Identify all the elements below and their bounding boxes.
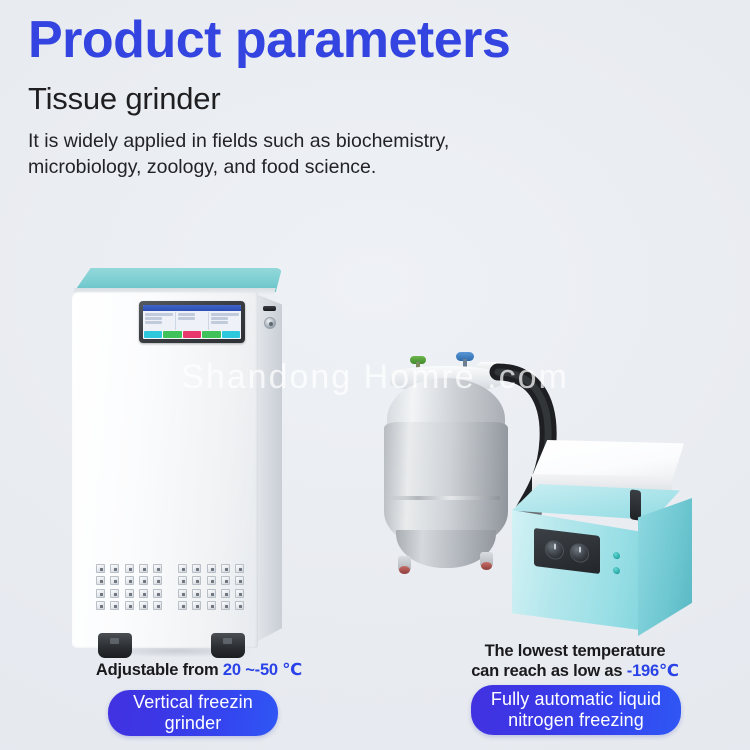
vent-cell [207,601,216,610]
freezing-chamber-unit [512,440,692,630]
right-caption-highlight: -196℃ [627,662,679,680]
description-line-2: microbiology, zoology, and food science. [28,156,376,178]
vent-cell [110,589,119,598]
vent-cell [178,601,187,610]
product-description: It is widely applied in fields such as b… [28,129,588,181]
grinder-foot-left [98,633,132,658]
vent-cell [139,564,148,573]
left-button-line-1: Vertical freezin [133,692,253,712]
vent-cell [125,589,134,598]
right-product-caption: The lowest temperature can reach as low … [452,641,698,681]
description-line-1: It is widely applied in fields such as b… [28,130,449,152]
vent-cell [178,589,187,598]
product-name: Tissue grinder [28,81,750,117]
freezer-lid-latch[interactable] [630,489,641,521]
grinder-usb-port[interactable] [263,306,276,311]
right-caption-line-1: The lowest temperature [485,642,666,660]
screen-divider [175,312,176,330]
vent-cell [235,601,244,610]
vent-cell [125,564,134,573]
freezer-dial-left[interactable] [545,539,564,560]
vent-cell [153,576,162,585]
screen-text-line [211,313,239,316]
vent-cell [192,601,201,610]
grinder-power-knob-icon[interactable] [264,317,276,329]
grinder-vent-area [96,564,246,610]
vent-cell [207,576,216,585]
liquid-nitrogen-freezing-button[interactable]: Fully automatic liquid nitrogen freezing [471,685,681,735]
tank-caster-wheel [398,556,411,571]
vent-cell [139,576,148,585]
vent-cell [235,564,244,573]
screen-button-cyan[interactable] [144,331,162,338]
screen-text-line [211,321,228,324]
left-button-label: Vertical freezin grinder [133,692,253,734]
tank-caster-wheel [480,552,493,567]
vertical-grinder-illustration [68,268,290,656]
vent-cell [139,589,148,598]
vent-cell [153,601,162,610]
vent-cell [125,601,134,610]
vent-cell [221,589,230,598]
vent-cell [110,601,119,610]
screen-divider [208,312,209,330]
grinder-vent-grille-left [96,564,164,610]
freezer-indicator-light [613,552,620,560]
vent-cell [178,576,187,585]
vent-cell [96,576,105,585]
vent-cell [153,564,162,573]
screen-button-row[interactable] [143,331,241,339]
right-button-label: Fully automatic liquid nitrogen freezing [491,689,661,731]
vent-cell [192,576,201,585]
vertical-freezing-grinder-button[interactable]: Vertical freezin grinder [108,690,278,736]
vent-cell [192,589,201,598]
screen-readout-mid [177,312,207,330]
grinder-vent-grille-right [178,564,246,610]
vent-cell [110,576,119,585]
grinder-touchscreen[interactable] [143,305,241,339]
grinder-foot-right [211,633,245,658]
freezer-indicator-group [610,551,622,586]
page-title: Product parameters [28,14,750,67]
right-button-line-1: Fully automatic liquid [491,689,661,709]
screen-button-cyan[interactable] [222,331,240,338]
vent-cell [125,576,134,585]
header-block: Product parameters Tissue grinder It is … [0,0,750,181]
liquid-nitrogen-dewar-tank [382,344,512,574]
vent-cell [207,564,216,573]
left-product-caption: Adjustable from 20 ~-50 ℃ [60,660,338,680]
vent-cell [96,589,105,598]
screen-text-line [145,313,173,316]
tank-seam-ring [390,496,500,500]
screen-readout-right [210,312,240,330]
vent-cell [221,564,230,573]
vent-cell [207,589,216,598]
vent-cell [96,601,105,610]
screen-button-green[interactable] [163,331,181,338]
vent-cell [110,564,119,573]
vent-cell [221,601,230,610]
liquid-nitrogen-freezer-illustration [372,328,702,648]
freezer-dial-right[interactable] [570,542,589,563]
screen-readouts [143,311,241,331]
freezer-body-side [638,498,692,636]
vent-cell [139,601,148,610]
screen-text-line [211,317,228,320]
vent-cell [96,564,105,573]
grinder-side-face [256,294,282,642]
screen-text-line [178,313,195,316]
vent-cell [235,576,244,585]
screen-text-line [178,317,195,320]
right-caption-line-2-prefix: can reach as low as [471,662,627,680]
vent-cell [178,564,187,573]
screen-text-line [145,317,162,320]
screen-text-line [145,321,162,324]
screen-readout-left [144,312,174,330]
poster-canvas: Product parameters Tissue grinder It is … [0,0,750,750]
left-button-line-2: grinder [165,713,222,733]
freezer-control-panel[interactable] [534,528,600,574]
screen-button-green[interactable] [202,331,220,338]
grinder-control-panel[interactable] [139,301,245,343]
left-caption-prefix: Adjustable from [96,661,223,679]
freezer-indicator-light [613,567,620,575]
vent-cell [153,589,162,598]
vent-cell [221,576,230,585]
vent-cell [235,589,244,598]
left-caption-highlight: 20 ~-50 ℃ [223,661,302,679]
screen-button-red[interactable] [183,331,201,338]
vent-cell [192,564,201,573]
right-button-line-2: nitrogen freezing [508,710,644,730]
